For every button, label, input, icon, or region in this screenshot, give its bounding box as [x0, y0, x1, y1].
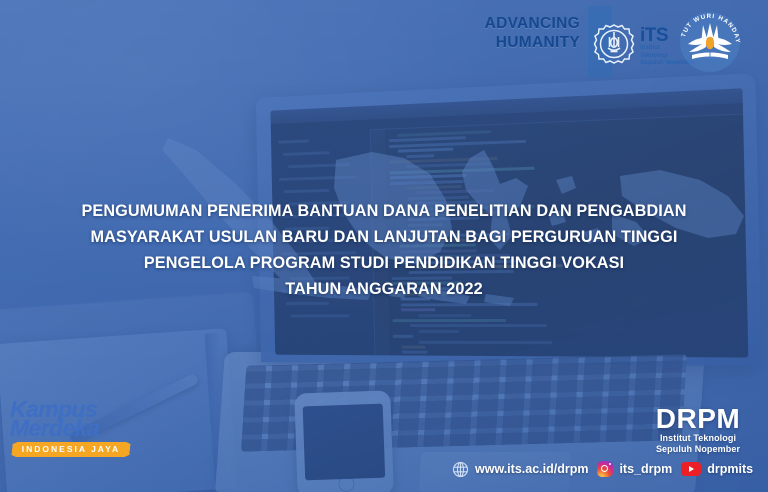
- its-wordmark: iTS: [640, 26, 668, 45]
- title-line-1: PENGUMUMAN PENERIMA BANTUAN DANA PENELIT…: [17, 198, 750, 224]
- title-line-3: PENGELOLA PROGRAM STUDI PENDIDIKAN TINGG…: [17, 250, 750, 276]
- instagram-icon: [597, 461, 613, 477]
- tagline-line-1: ADVANCING: [485, 14, 580, 33]
- youtube-icon: [681, 462, 701, 476]
- tut-wuri-handayani-logo-icon: TUT WURI HANDAYANI: [676, 10, 744, 74]
- kampus-merdeka-ribbon: INDONESIA JAYA: [11, 442, 131, 457]
- drpm-acronym: DRPM: [640, 404, 756, 433]
- kampus-merdeka-line-2: Merdeka: [10, 417, 99, 440]
- social-links-bar: www.its.ac.id/drpm its_drpm drpmits: [452, 458, 753, 480]
- kampus-merdeka-ribbon-text: INDONESIA JAYA: [12, 442, 130, 457]
- globe-icon: [452, 461, 469, 478]
- banner-header: ADVANCING HUMANITY: [0, 0, 768, 86]
- tagline-line-2: HUMANITY: [485, 33, 580, 52]
- title-line-2: MASYARAKAT USULAN BARU DAN LANJUTAN BAGI…: [17, 224, 750, 250]
- youtube-link[interactable]: drpmits: [681, 462, 753, 476]
- kampus-merdeka-logo: Kampus Merdeka INDONESIA JAYA: [8, 398, 140, 462]
- website-label: www.its.ac.id/drpm: [475, 463, 588, 476]
- drpm-subtitle-line-2: Sepuluh Nopember: [640, 444, 756, 455]
- title-line-4: TAHUN ANGGARAN 2022: [17, 276, 750, 302]
- announcement-title: PENGUMUMAN PENERIMA BANTUAN DANA PENELIT…: [0, 198, 768, 302]
- drpm-subtitle-line-1: Institut Teknologi: [640, 433, 756, 444]
- website-link[interactable]: www.its.ac.id/drpm: [452, 461, 588, 478]
- advancing-humanity-tagline: ADVANCING HUMANITY: [485, 14, 580, 52]
- its-gear-logo-icon: [592, 22, 636, 66]
- drpm-logo: DRPM Institut Teknologi Sepuluh Nopember: [640, 404, 756, 455]
- youtube-label: drpmits: [707, 463, 753, 476]
- instagram-label: its_drpm: [619, 463, 672, 476]
- instagram-link[interactable]: its_drpm: [597, 461, 672, 477]
- announcement-banner: ADVANCING HUMANITY: [0, 0, 768, 492]
